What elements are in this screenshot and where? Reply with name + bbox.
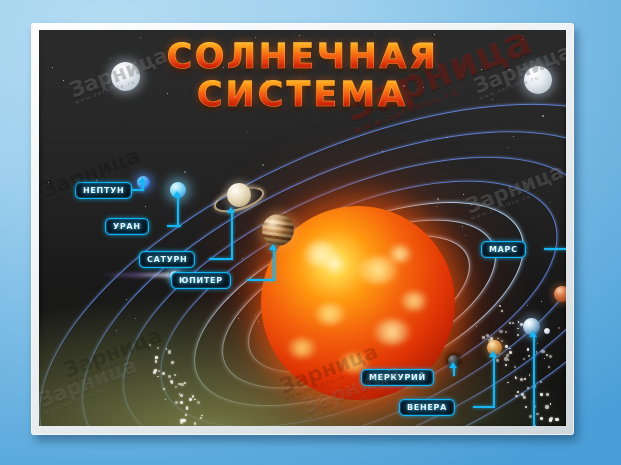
star (421, 43, 422, 44)
star (417, 89, 418, 90)
label-jupiter[interactable]: ЮПИТЕР (171, 272, 231, 289)
label-neptune[interactable]: НЕПТУН (75, 182, 132, 199)
star (126, 299, 127, 300)
label-jupiter-text: ЮПИТЕР (179, 276, 223, 285)
arrow-neptune (138, 177, 146, 183)
asteroid (175, 386, 177, 388)
star (447, 137, 448, 138)
star (382, 151, 383, 152)
star (184, 171, 186, 173)
moon-top-right (524, 66, 552, 94)
asteroid (540, 417, 543, 420)
asteroid (529, 374, 531, 376)
asteroid (166, 348, 168, 350)
star (223, 67, 224, 68)
poster-canvas: НЕПТУН УРАН САТУРН ЮПИТЕР МАРС МЕРКУРИЙ … (39, 30, 566, 426)
asteroid (157, 347, 159, 349)
watermark-url: www.zarnitza.ru (68, 344, 166, 387)
asteroid (517, 334, 520, 337)
asteroid (515, 377, 517, 379)
star (550, 250, 551, 251)
asteroid (527, 387, 529, 389)
asteroid (486, 334, 490, 338)
asteroid (541, 350, 544, 353)
moon-top-left (111, 62, 140, 91)
asteroid (537, 343, 538, 344)
star (403, 85, 405, 87)
leader-earth-v (533, 337, 535, 426)
label-uranus-text: УРАН (113, 222, 141, 231)
asteroid (545, 405, 549, 409)
asteroid (170, 380, 173, 383)
asteroid (505, 331, 507, 333)
label-mars-text: МАРС (489, 245, 518, 254)
leader-saturn-h (209, 258, 233, 260)
star (396, 88, 397, 89)
watermark-url: www.zarnitza.ru (353, 57, 540, 137)
star (239, 293, 240, 294)
leader-uranus-h (167, 225, 181, 227)
asteroid (496, 359, 499, 362)
asteroid (171, 361, 174, 364)
asteroid (158, 370, 160, 372)
star (110, 58, 111, 59)
watermark-brand: Зарница (471, 41, 566, 97)
asteroid (546, 393, 549, 396)
star (167, 93, 168, 94)
asteroid (524, 378, 526, 380)
arrow-uranus (173, 191, 181, 197)
star (463, 194, 464, 195)
leader-jupiter-v (273, 250, 275, 280)
star (507, 147, 508, 148)
asteroid (192, 395, 194, 397)
arrow-mercury (449, 362, 457, 368)
asteroid (509, 351, 512, 354)
star (513, 136, 514, 137)
asteroid (165, 399, 166, 400)
asteroid (180, 383, 183, 386)
asteroid (548, 366, 551, 369)
asteroid (501, 340, 503, 342)
asteroid (550, 417, 553, 420)
asteroid (536, 413, 538, 415)
asteroid (525, 406, 527, 408)
star (476, 326, 477, 327)
watermark-brand: Зарница (463, 161, 566, 217)
asteroid (540, 393, 543, 396)
asteroid (505, 345, 508, 348)
asteroid (508, 359, 510, 361)
asteroid (482, 336, 485, 339)
arrow-venus (489, 351, 497, 357)
star (499, 305, 501, 307)
asteroid (520, 378, 523, 381)
asteroid (528, 355, 530, 357)
star (465, 235, 466, 236)
top-shade (39, 30, 566, 150)
star (285, 212, 286, 213)
star (228, 298, 229, 299)
star (542, 115, 544, 117)
asteroid (509, 348, 510, 349)
asteroid (168, 350, 172, 354)
leader-jupiter-h (247, 279, 275, 281)
star (255, 315, 256, 316)
planet-saturn (214, 178, 262, 218)
star (481, 69, 482, 70)
star (242, 258, 243, 259)
star (299, 35, 300, 36)
watermark-url: www.zarnitza.ru (478, 60, 566, 103)
poster-frame: НЕПТУН УРАН САТУРН ЮПИТЕР МАРС МЕРКУРИЙ … (31, 23, 574, 435)
asteroid (527, 348, 530, 351)
asteroid (197, 401, 200, 404)
star (462, 226, 463, 227)
star (300, 77, 301, 78)
asteroid (200, 417, 202, 419)
asteroid (517, 391, 520, 394)
asteroid (550, 403, 552, 405)
watermark-mid-right: Зарница www.zarnitza.ru (463, 161, 566, 222)
leader-neptune-v (142, 182, 144, 191)
leader-uranus-v (177, 197, 179, 226)
star (135, 318, 136, 319)
star (437, 198, 439, 200)
watermark-top-right: Зарница www.zarnitza.ru (471, 41, 566, 102)
asteroid (168, 375, 171, 378)
star (525, 183, 526, 184)
star (52, 67, 53, 68)
star (509, 69, 510, 70)
leader-saturn-v (231, 213, 233, 259)
moon-of-earth (544, 328, 550, 334)
label-neptune-text: НЕПТУН (83, 186, 124, 195)
asteroid (514, 366, 516, 368)
leader-venus-h (473, 406, 495, 408)
asteroid (194, 399, 196, 401)
watermark-center: Зарница www.zarnitza.ru (339, 30, 540, 137)
star (145, 206, 146, 207)
label-venus[interactable]: ВЕНЕРА (399, 399, 455, 416)
asteroid (155, 360, 157, 362)
star (266, 80, 268, 82)
star (423, 87, 424, 88)
star (434, 34, 435, 35)
asteroid (536, 351, 538, 353)
leader-mercury-v (453, 367, 455, 376)
asteroid (184, 382, 186, 384)
star (116, 330, 117, 331)
label-saturn[interactable]: САТУРН (139, 251, 195, 268)
watermark-brand: Зарница (339, 30, 536, 127)
star (63, 80, 64, 81)
asteroid (515, 395, 517, 397)
planet-jupiter (262, 214, 294, 246)
asteroid (529, 415, 532, 418)
asteroid (162, 372, 165, 375)
asteroid (507, 382, 508, 383)
asteroid (506, 354, 509, 357)
asteroid (201, 415, 203, 417)
arrow-jupiter (269, 244, 277, 250)
star (262, 164, 264, 166)
asteroid (154, 369, 157, 372)
star (258, 321, 259, 322)
asteroid (185, 414, 186, 415)
star (558, 327, 560, 329)
asteroid (163, 388, 166, 391)
asteroid (180, 394, 183, 397)
label-mercury-text: МЕРКУРИЙ (369, 373, 426, 382)
star (522, 39, 523, 40)
screenshot-root: НЕПТУН УРАН САТУРН ЮПИТЕР МАРС МЕРКУРИЙ … (0, 0, 621, 465)
asteroid (194, 422, 196, 424)
asteroid (546, 354, 548, 356)
arrow-saturn (227, 207, 235, 213)
asteroid (501, 310, 503, 312)
star (48, 182, 49, 183)
label-mars[interactable]: МАРС (481, 241, 526, 258)
star (247, 132, 248, 133)
label-uranus[interactable]: УРАН (105, 218, 149, 235)
leader-mars-h (544, 248, 566, 250)
star (541, 301, 542, 302)
comet (101, 266, 179, 282)
asteroid (149, 344, 151, 346)
asteroid (505, 364, 507, 366)
planet-mars (554, 286, 566, 302)
label-venus-text: ВЕНЕРА (407, 403, 447, 412)
star (527, 305, 528, 306)
watermark-brand: Зарница (61, 325, 164, 381)
asteroid (186, 407, 188, 409)
star (140, 37, 141, 38)
watermark-bottom-left: Зарница www.zarnitza.ru (61, 325, 167, 386)
asteroid (189, 398, 192, 401)
asteroid (180, 401, 184, 405)
asteroid (544, 358, 546, 360)
asteroid (512, 322, 514, 324)
watermark-url: www.zarnitza.ru (470, 180, 566, 223)
star (238, 318, 239, 319)
label-saturn-text: САТУРН (147, 255, 187, 264)
star (255, 37, 256, 38)
asteroid (499, 330, 503, 334)
asteroid (540, 381, 542, 383)
asteroid (535, 425, 536, 426)
asteroid (518, 321, 519, 322)
star (375, 33, 376, 34)
asteroid (517, 328, 518, 329)
star (492, 99, 493, 100)
label-mercury[interactable]: МЕРКУРИЙ (361, 369, 434, 386)
asteroid (523, 358, 525, 360)
asteroid (155, 356, 158, 359)
leader-venus-v (493, 357, 495, 407)
asteroid (174, 374, 177, 377)
star (244, 105, 245, 106)
star (426, 139, 427, 140)
star (436, 206, 437, 207)
asteroid (157, 376, 159, 378)
asteroid (549, 355, 552, 358)
asteroid (178, 383, 180, 385)
arrow-earth (529, 331, 537, 337)
star (550, 202, 551, 203)
asteroid (555, 418, 559, 422)
asteroid (497, 338, 499, 340)
asteroid (175, 401, 178, 404)
